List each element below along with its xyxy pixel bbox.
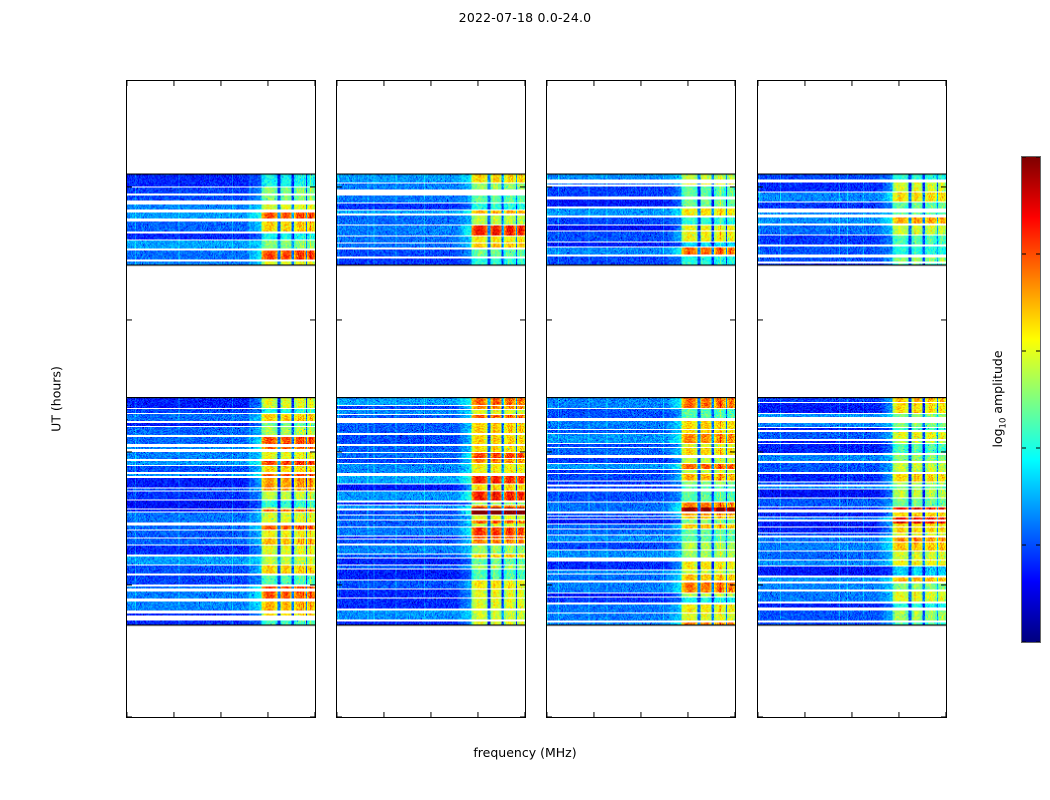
y-tick-mark (758, 584, 763, 585)
x-tick-mark (687, 712, 688, 717)
y-tick-mark (520, 319, 525, 320)
y-tick-mark (758, 451, 763, 452)
y-tick-mark (547, 319, 552, 320)
x-tick-mark (546, 712, 547, 717)
x-tick-label: 335 (373, 717, 396, 718)
x-tick-mark (524, 712, 525, 717)
x-tick-mark (593, 81, 594, 86)
y-tick-mark (520, 451, 525, 452)
y-tick-mark (547, 186, 552, 187)
x-tick-label: 365 (888, 717, 911, 718)
y-tick-mark (730, 186, 735, 187)
x-tick-mark (757, 712, 758, 717)
x-tick-label: 320 (336, 717, 348, 718)
y-tick-mark (337, 186, 342, 187)
x-tick-mark (314, 81, 315, 86)
x-tick-mark (126, 81, 127, 86)
x-tick-label: 335 (163, 717, 186, 718)
y-tick-mark (520, 186, 525, 187)
x-tick-label: 365 (677, 717, 700, 718)
x-tick-label: 365 (467, 717, 490, 718)
y-tick-mark (941, 186, 946, 187)
y-tick-mark (730, 584, 735, 585)
colorbar-tick-mark (1036, 545, 1040, 546)
x-tick-label: 380 (304, 717, 316, 718)
colorbar-label-tail: amplitude (990, 350, 1005, 417)
x-tick-label: 380 (514, 717, 526, 718)
x-tick-mark (173, 81, 174, 86)
x-tick-label: 320 (126, 717, 138, 718)
x-tick-mark (851, 81, 852, 86)
y-tick-mark (758, 319, 763, 320)
y-tick-mark (127, 451, 132, 452)
y-tick-mark (758, 186, 763, 187)
x-tick-mark (804, 81, 805, 86)
colorbar-tick-mark (1022, 351, 1026, 352)
y-tick-mark (730, 451, 735, 452)
x-tick-label: 320 (757, 717, 769, 718)
x-tick-mark (524, 81, 525, 86)
x-tick-mark (477, 81, 478, 86)
heatmap-xx (127, 81, 315, 717)
colorbar-tick-mark (1036, 254, 1040, 255)
y-tick-mark (310, 584, 315, 585)
y-tick-mark (941, 584, 946, 585)
y-tick-mark (941, 451, 946, 452)
x-tick-mark (898, 81, 899, 86)
heatmap-yx (758, 81, 946, 717)
x-tick-label: 350 (420, 717, 443, 718)
x-tick-mark (546, 81, 547, 86)
x-tick-label: 350 (630, 717, 653, 718)
panel-xy[interactable]: XY, V5*V8=EA11* 05101520320335350365380 (546, 80, 736, 718)
y-tick-mark (547, 451, 552, 452)
y-tick-mark (547, 584, 552, 585)
heatmap-xy (547, 81, 735, 717)
x-tick-mark (945, 81, 946, 86)
y-axis-label: UT (hours) (49, 366, 64, 432)
heatmap-yy (337, 81, 525, 717)
x-tick-mark (220, 712, 221, 717)
x-tick-mark (945, 712, 946, 717)
x-tick-mark (336, 712, 337, 717)
colorbar[interactable]: 10-1-2-3-4 (1021, 156, 1041, 643)
x-tick-mark (757, 81, 758, 86)
colorbar-tick-mark (1022, 157, 1026, 158)
colorbar-label: log10 amplitude (990, 350, 1009, 447)
x-tick-label: 365 (257, 717, 280, 718)
y-tick-mark (127, 319, 132, 320)
x-tick-label: 350 (841, 717, 864, 718)
colorbar-tick-mark (1022, 545, 1026, 546)
y-tick-mark (337, 451, 342, 452)
colorbar-tick-mark (1036, 157, 1040, 158)
panel-xx[interactable]: XX, V5*V8=EA11* 05101520320335350365380 (126, 80, 316, 718)
colorbar-tick-mark (1036, 448, 1040, 449)
x-tick-label: 335 (583, 717, 606, 718)
x-tick-mark (804, 712, 805, 717)
colorbar-label-main: log (990, 428, 1005, 447)
x-tick-mark (220, 81, 221, 86)
x-tick-mark (734, 81, 735, 86)
x-tick-mark (734, 712, 735, 717)
y-tick-mark (310, 451, 315, 452)
x-tick-mark (640, 712, 641, 717)
y-tick-mark (127, 186, 132, 187)
x-tick-mark (430, 712, 431, 717)
x-tick-label: 380 (935, 717, 947, 718)
figure-title: 2022-07-18 0.0-24.0 (0, 10, 1050, 25)
x-tick-mark (383, 712, 384, 717)
x-tick-mark (851, 712, 852, 717)
x-tick-label: 335 (794, 717, 817, 718)
x-tick-mark (430, 81, 431, 86)
x-tick-mark (898, 712, 899, 717)
panel-yy[interactable]: YY, V5*V8=EA11* 05101520320335350365380 (336, 80, 526, 718)
y-tick-mark (520, 584, 525, 585)
x-tick-mark (687, 81, 688, 86)
x-tick-label: 320 (546, 717, 558, 718)
x-tick-mark (267, 712, 268, 717)
figure-root: 2022-07-18 0.0-24.0 XX, V5*V8=EA11* 0510… (0, 0, 1050, 800)
x-tick-mark (383, 81, 384, 86)
colorbar-tick-mark (1022, 448, 1026, 449)
x-tick-mark (173, 712, 174, 717)
x-axis-label: frequency (MHz) (0, 745, 1050, 760)
x-tick-mark (267, 81, 268, 86)
x-tick-label: 350 (210, 717, 233, 718)
panel-yx[interactable]: YX, V5*V8=EA11* 05101520320335350365380 (757, 80, 947, 718)
colorbar-label-sub: 10 (998, 418, 1008, 429)
colorbar-tick-mark (1022, 642, 1026, 643)
y-tick-mark (310, 319, 315, 320)
y-tick-mark (337, 584, 342, 585)
x-tick-mark (336, 81, 337, 86)
y-tick-mark (310, 186, 315, 187)
y-tick-mark (337, 319, 342, 320)
colorbar-tick-mark (1036, 351, 1040, 352)
colorbar-tick-mark (1036, 642, 1040, 643)
x-tick-mark (640, 81, 641, 86)
x-tick-mark (593, 712, 594, 717)
x-tick-label: 380 (724, 717, 736, 718)
x-tick-mark (314, 712, 315, 717)
x-tick-mark (477, 712, 478, 717)
colorbar-tick-mark (1022, 254, 1026, 255)
y-tick-mark (127, 584, 132, 585)
x-tick-mark (126, 712, 127, 717)
y-tick-mark (941, 319, 946, 320)
y-tick-mark (730, 319, 735, 320)
